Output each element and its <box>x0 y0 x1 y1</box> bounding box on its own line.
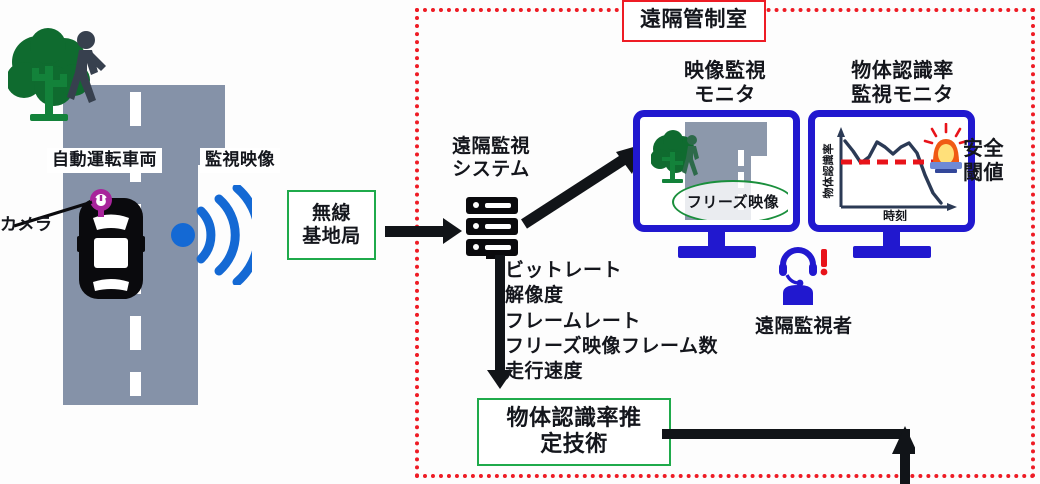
lane-dash <box>130 316 141 350</box>
parameter-item: ビットレート <box>505 258 718 283</box>
arrow-estimation-to-recognition-monitor <box>660 404 915 484</box>
arrow-basestation-to-system <box>385 218 462 244</box>
chart-ylabel: 物体認識率 <box>821 144 835 199</box>
radio-wave-icon <box>170 185 252 285</box>
estimation-technology-box: 物体認識率推 定技術 <box>477 398 671 466</box>
chart-xlabel: 時刻 <box>883 208 907 221</box>
server-rack-icon <box>466 197 518 259</box>
lane-dash <box>130 372 141 396</box>
system-label-line1: 遠隔監視 <box>452 135 530 158</box>
system-label: 遠隔監視 システム <box>452 135 530 181</box>
estimation-line1: 物体認識率推 <box>506 406 641 432</box>
base-station-line2: 基地局 <box>302 225 361 248</box>
lane-dash <box>130 92 141 126</box>
headset-operator-icon <box>775 243 833 305</box>
parameter-item: 解像度 <box>505 283 718 308</box>
recognition-monitor-stand <box>853 246 931 258</box>
mini-lane-dash <box>738 150 744 166</box>
video-monitor-title: 映像監視 モニタ <box>640 58 810 106</box>
freeze-video-annotation: フリーズ映像 <box>672 180 788 220</box>
video-surveillance-monitor[interactable]: フリーズ映像 <box>633 110 800 232</box>
arrow-system-to-video-monitor <box>520 140 650 230</box>
video-feed-label: 監視映像 <box>200 148 280 173</box>
video-monitor-title-line1: 映像監視 <box>640 58 810 82</box>
video-monitor-title-line2: モニタ <box>640 82 810 106</box>
parameter-item: 走行速度 <box>505 359 718 384</box>
safety-threshold-label: 安全 閾値 <box>963 136 1004 184</box>
video-monitor-screen: フリーズ映像 <box>645 122 788 220</box>
mini-road-upper <box>727 122 767 156</box>
camera-label: カメラ <box>0 215 53 236</box>
base-station-line1: 無線 <box>302 202 361 225</box>
parameter-item: フレームレート <box>505 309 718 334</box>
recognition-monitor-title-line1: 物体認識率 <box>820 58 985 82</box>
pedestrian-icon <box>62 30 110 108</box>
recognition-monitor-title: 物体認識率 監視モニタ <box>820 58 985 106</box>
video-monitor-stand <box>678 246 756 258</box>
vehicle-label: 自動運転車両 <box>47 148 162 173</box>
mini-pedestrian-icon <box>679 134 705 178</box>
estimation-line2: 定技術 <box>506 432 641 458</box>
recognition-monitor-title-line2: 監視モニタ <box>820 82 985 106</box>
system-label-line2: システム <box>452 158 530 181</box>
operator-label: 遠隔監視者 <box>755 315 853 338</box>
parameter-list: ビットレート 解像度 フレームレート フリーズ映像フレーム数 走行速度 <box>505 258 718 384</box>
safety-threshold-line2: 閾値 <box>963 160 1004 184</box>
diagram-canvas: カメラ 自動運転車両 監視映像 遠隔管制室 無線 基地局 遠隔監視 システム <box>0 0 1040 484</box>
safety-threshold-line1: 安全 <box>963 136 1004 160</box>
base-station-box: 無線 基地局 <box>287 190 376 260</box>
remote-control-room-title: 遠隔管制室 <box>622 0 766 42</box>
recognition-rate-monitor[interactable]: 物体認識率 時刻 <box>808 110 975 232</box>
parameter-item: フリーズ映像フレーム数 <box>505 334 718 359</box>
